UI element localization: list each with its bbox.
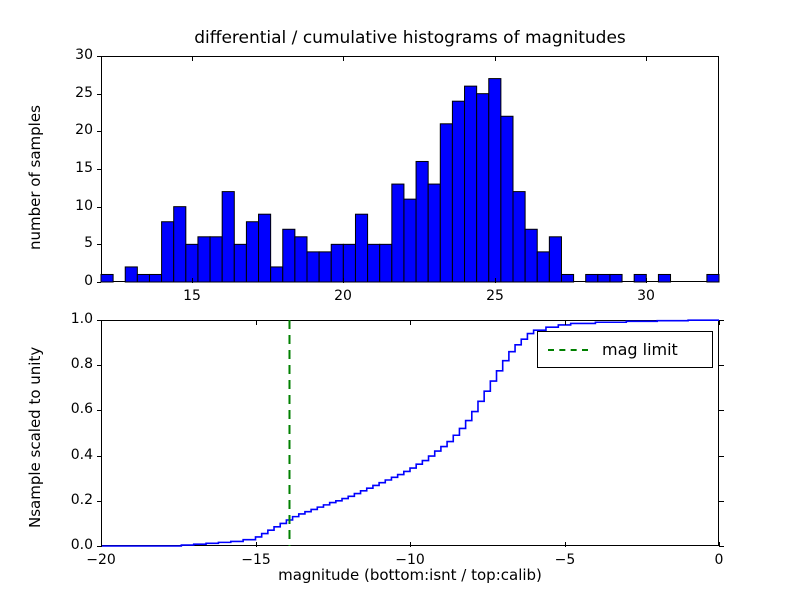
tick-mark	[719, 365, 724, 366]
legend-label-mag-limit: mag limit	[602, 340, 678, 359]
mag-limit-dashed-line-swatch	[548, 349, 588, 351]
tick-mark	[256, 320, 257, 325]
tick-mark	[565, 542, 566, 547]
tick-label-0.2: 0.2	[13, 492, 93, 508]
tick-mark	[97, 410, 101, 411]
tick-label-0.0: 0.0	[13, 537, 93, 553]
tick-label-0.6: 0.6	[13, 401, 93, 417]
tick-label-1.0: 1.0	[13, 311, 93, 327]
tick-mark	[719, 320, 720, 325]
tick-mark	[97, 501, 101, 502]
tick-mark	[97, 456, 101, 457]
tick-label-0.4: 0.4	[13, 447, 93, 463]
tick-label-0.8: 0.8	[13, 356, 93, 372]
tick-mark	[101, 542, 102, 547]
cumulative-curve-plot	[0, 0, 800, 600]
tick-mark	[719, 456, 724, 457]
tick-mark	[410, 320, 411, 325]
tick-mark	[97, 365, 101, 366]
tick-mark	[719, 501, 724, 502]
tick-mark	[101, 320, 102, 325]
bottom-panel-xlabel: magnitude (bottom:isnt / top:calib)	[101, 566, 719, 584]
tick-mark	[565, 320, 566, 325]
tick-mark	[719, 542, 720, 547]
tick-mark	[719, 410, 724, 411]
tick-mark	[410, 542, 411, 547]
legend[interactable]: mag limit	[537, 331, 713, 368]
figure-canvas: differential / cumulative histograms of …	[0, 0, 800, 600]
tick-mark	[256, 542, 257, 547]
